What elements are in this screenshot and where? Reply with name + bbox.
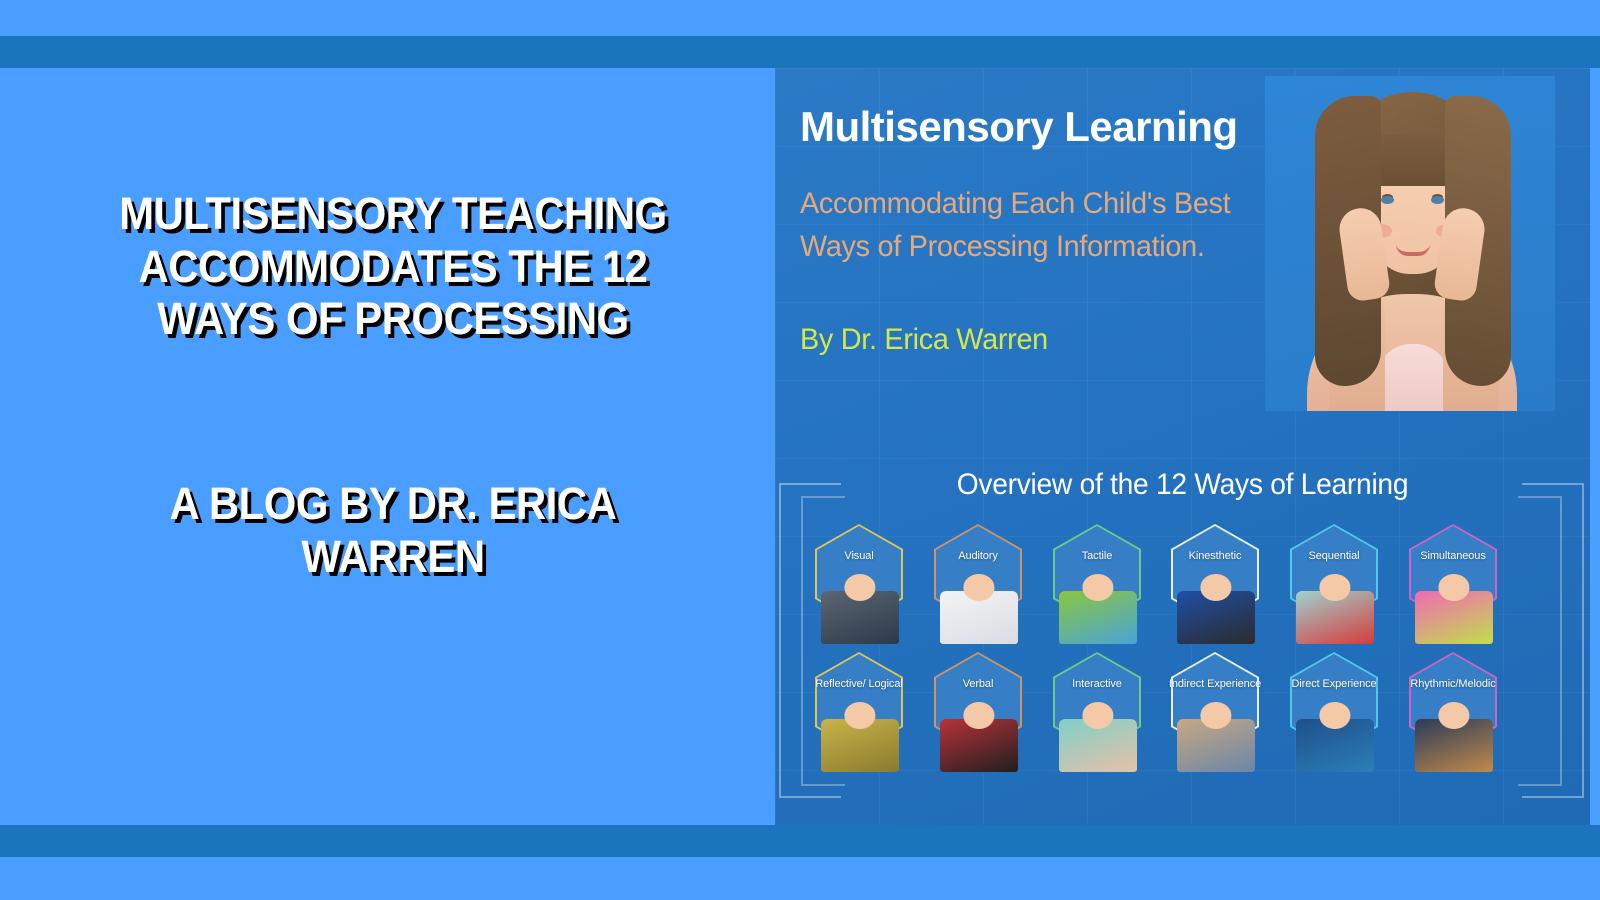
author-byline: A BLOG BY DR. ERICA WARREN — [104, 478, 681, 583]
woman-with-stairs-steps-photo — [1296, 570, 1374, 644]
people-with-hard-hats-pointing-photo — [1177, 698, 1255, 772]
bottom-divider-rule — [0, 825, 1600, 857]
learning-way-tile: Kinesthetic — [1159, 518, 1271, 644]
top-divider-rule — [0, 36, 1600, 68]
learning-way-tile: Reflective/ Logical — [803, 646, 915, 772]
learning-way-label: Visual — [799, 550, 919, 562]
learning-way-tile: Direct Experience — [1278, 646, 1390, 772]
learning-ways-row-2: Reflective/ LogicalVerbalInteractiveIndi… — [795, 646, 1570, 776]
boy-with-magnifying-glass-photo — [821, 570, 899, 644]
learning-way-label: Tactile — [1037, 550, 1157, 562]
boy-with-megaphone-photo — [940, 698, 1018, 772]
hand-squeezing-koosh-ball-photo — [1059, 570, 1137, 644]
course-cover-image: Multisensory Learning Accommodating Each… — [775, 68, 1590, 825]
learning-way-label: Direct Experience — [1274, 678, 1394, 690]
girl-photo — [1265, 76, 1555, 411]
page-title: MULTISENSORY TEACHING ACCOMMODATES THE 1… — [76, 188, 708, 346]
boy-playing-guitar-photo — [1415, 698, 1493, 772]
two-boys-jumping-photo — [1177, 570, 1255, 644]
blog-header-banner: MULTISENSORY TEACHING ACCOMMODATES THE 1… — [0, 0, 1600, 900]
learning-ways-row-1: VisualAuditoryTactileKinestheticSequenti… — [795, 518, 1570, 648]
learning-way-label: Kinesthetic — [1155, 550, 1275, 562]
learning-way-label: Rhythmic/Melodic — [1393, 678, 1513, 690]
learning-way-label: Simultaneous — [1393, 550, 1513, 562]
left-text-panel: MULTISENSORY TEACHING ACCOMMODATES THE 1… — [10, 68, 775, 825]
boy-with-snorkel-mask-photo — [1296, 698, 1374, 772]
learning-way-label: Verbal — [918, 678, 1038, 690]
learning-way-tile: Tactile — [1041, 518, 1153, 644]
learning-way-tile: Interactive — [1041, 646, 1153, 772]
hero-block: Multisensory Learning Accommodating Each… — [775, 68, 1590, 418]
hero-author: By Dr. Erica Warren — [800, 323, 1048, 357]
hero-title: Multisensory Learning — [800, 103, 1238, 151]
hero-subtitle: Accommodating Each Child's Best Ways of … — [800, 183, 1280, 268]
learning-way-tile: Visual — [803, 518, 915, 644]
learning-way-label: Indirect Experience — [1155, 678, 1275, 690]
overview-title: Overview of the 12 Ways of Learning — [799, 468, 1565, 502]
learning-way-tile: Rhythmic/Melodic — [1397, 646, 1509, 772]
boy-thinking-with-glasses-photo — [821, 698, 899, 772]
learning-way-tile: Indirect Experience — [1159, 646, 1271, 772]
learning-way-tile: Sequential — [1278, 518, 1390, 644]
learning-way-tile: Verbal — [922, 646, 1034, 772]
learning-way-label: Auditory — [918, 550, 1038, 562]
learning-way-label: Reflective/ Logical — [799, 678, 919, 690]
learning-way-tile: Simultaneous — [1397, 518, 1509, 644]
group-of-children-photo — [1059, 698, 1137, 772]
mind-map-question-bubbles-photo — [1415, 570, 1493, 644]
learning-way-label: Interactive — [1037, 678, 1157, 690]
learning-way-label: Sequential — [1274, 550, 1394, 562]
girl-listening-hand-to-ear-photo — [940, 570, 1018, 644]
learning-ways-grid: VisualAuditoryTactileKinestheticSequenti… — [795, 518, 1570, 793]
learning-way-tile: Auditory — [922, 518, 1034, 644]
